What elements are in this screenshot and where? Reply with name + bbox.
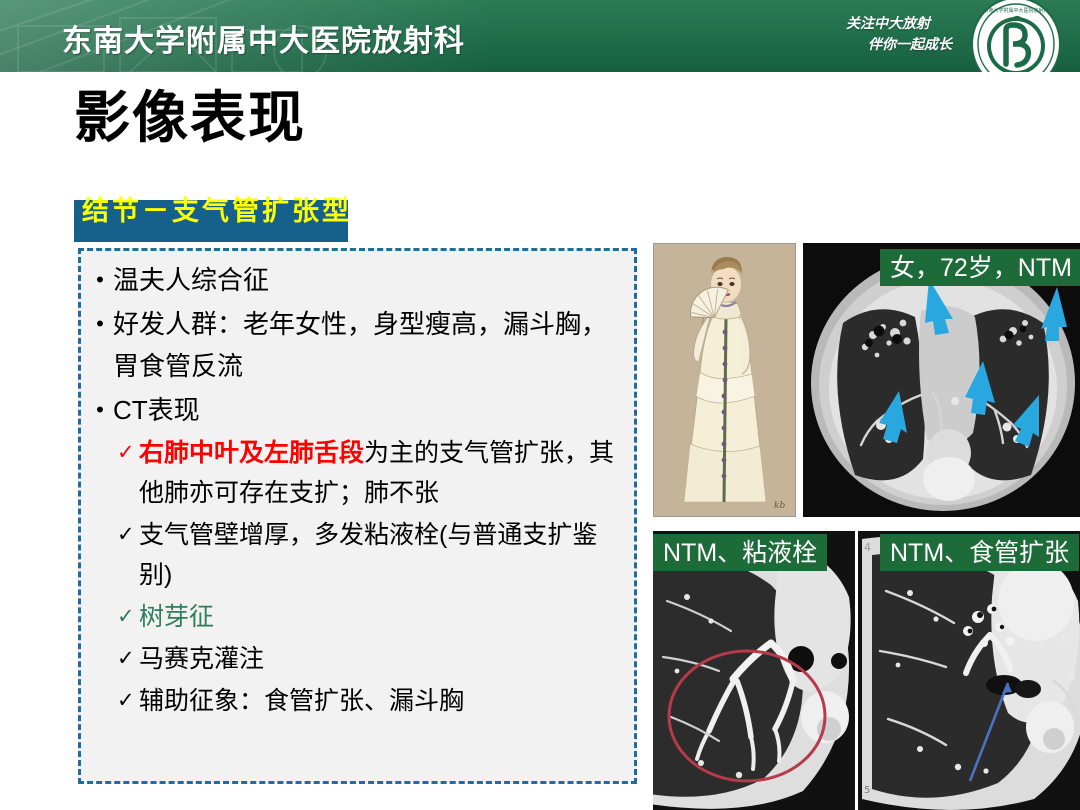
list-item: ✓ 马赛克灌注 xyxy=(117,639,624,679)
sub-bullet-text: 马赛克灌注 xyxy=(139,639,624,679)
caption-ct-esophagus: NTM、食管扩张 xyxy=(880,534,1079,571)
caption-ct-mucus: NTM、粘液栓 xyxy=(653,534,827,571)
sub-bullet-text: 辅助征象：食管扩张、漏斗胸 xyxy=(139,681,624,721)
chest-ct-axial-mucus-plug xyxy=(653,531,855,810)
caption-ct-upper: 女，72岁，NTM xyxy=(880,249,1080,286)
slogan-line-2: 伴你一起成长 xyxy=(846,35,952,56)
chest-ct-axial-dilated-esophagus: 4 5 xyxy=(858,531,1080,810)
header-slogan: 关注中大放射 伴你一起成长 xyxy=(846,14,952,56)
list-item: ✓ 支气管壁增厚，多发粘液栓(与普通支扩鉴别) xyxy=(117,515,624,595)
list-item: • 温夫人综合征 xyxy=(87,259,624,301)
check-icon: ✓ xyxy=(117,433,139,473)
radiology-emblem-logo: 东南大学附属中大医院放射科 DEPARTMENT OF RADIOLOGY xyxy=(968,0,1064,72)
content-text-box: • 温夫人综合征 • 好发人群：老年女性，身型瘦高，漏斗胸，胃食管反流 • CT… xyxy=(78,248,637,784)
bullet-text: CT表现 xyxy=(113,389,624,431)
list-item: ✓ 辅助征象：食管扩张、漏斗胸 xyxy=(117,681,624,721)
check-icon: ✓ xyxy=(117,639,139,679)
svg-text:5: 5 xyxy=(864,785,870,796)
bullet-text: 好发人群：老年女性，身型瘦高，漏斗胸，胃食管反流 xyxy=(113,303,624,387)
victorian-lady-illustration: kb xyxy=(653,243,796,517)
svg-text:4: 4 xyxy=(864,541,871,554)
list-item: • CT表现 xyxy=(87,389,624,431)
bullet-dot-icon: • xyxy=(87,389,113,431)
sub-bullet-text: 树芽征 xyxy=(139,597,624,637)
slide-root: 东南大学附属中大医院放射科 关注中大放射 伴你一起成长 东南大学附属中大医院放射… xyxy=(0,0,1080,810)
svg-text:kb: kb xyxy=(774,501,785,511)
sub-bullet-text: 右肺中叶及左肺舌段为主的支气管扩张，其他肺亦可存在支扩；肺不张 xyxy=(139,433,624,513)
bullet-text: 温夫人综合征 xyxy=(113,259,624,301)
list-item: ✓ 右肺中叶及左肺舌段为主的支气管扩张，其他肺亦可存在支扩；肺不张 xyxy=(117,433,624,513)
organization-title: 东南大学附属中大医院放射科 xyxy=(62,16,465,60)
slide-header: 东南大学附属中大医院放射科 关注中大放射 伴你一起成长 东南大学附属中大医院放射… xyxy=(0,0,1080,72)
slogan-line-1: 关注中大放射 xyxy=(846,16,930,32)
bullet-dot-icon: • xyxy=(87,303,113,345)
sub-bullet-text: 支气管壁增厚，多发粘液栓(与普通支扩鉴别) xyxy=(139,515,624,595)
check-icon: ✓ xyxy=(117,681,139,721)
list-item: • 好发人群：老年女性，身型瘦高，漏斗胸，胃食管反流 xyxy=(87,303,624,387)
section-banner-label: 结节－支气管扩张型 xyxy=(82,191,382,231)
bullet-dot-icon: • xyxy=(87,259,113,301)
list-item: ✓ 树芽征 xyxy=(117,597,624,637)
svg-text:东南大学附属中大医院放射科: 东南大学附属中大医院放射科 xyxy=(983,7,1048,14)
check-icon: ✓ xyxy=(117,597,139,637)
check-icon: ✓ xyxy=(117,515,139,555)
sub-bullet-highlight: 右肺中叶及左肺舌段 xyxy=(139,439,364,467)
page-title: 影像表现 xyxy=(74,86,306,152)
